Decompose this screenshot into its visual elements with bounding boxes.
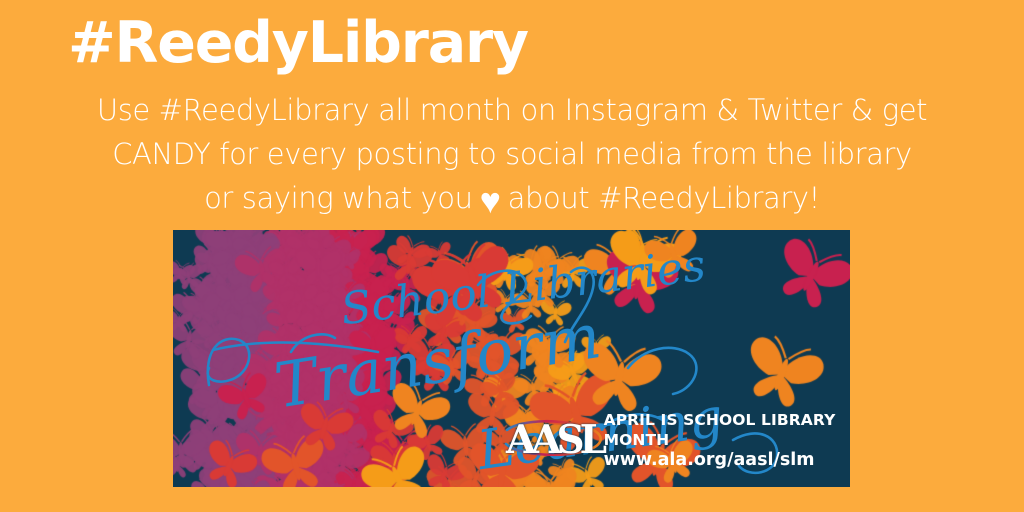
aasl-banner: School Libraries Transform Learning AASL	[173, 230, 850, 487]
slm-url: www.ala.org/aasl/slm	[604, 450, 850, 470]
aasl-logo: AASL	[506, 416, 591, 464]
promo-line-1: Use #ReedyLibrary all month on Instagram…	[0, 88, 1024, 132]
promo-line-2: CANDY for every posting to social media …	[0, 132, 1024, 176]
slm-tagline: APRIL IS SCHOOL LIBRARY MONTH	[604, 410, 850, 450]
promo-line-3-after: about #ReedyLibrary!	[508, 181, 820, 215]
slm-text-block: APRIL IS SCHOOL LIBRARY MONTH www.ala.or…	[604, 410, 850, 470]
promo-line-3-before: or saying what you	[204, 181, 473, 215]
promo-line-3: or saying what you♥about #ReedyLibrary!	[0, 176, 1024, 220]
page-title: #ReedyLibrary	[68, 12, 968, 74]
promo-copy: Use #ReedyLibrary all month on Instagram…	[0, 88, 1024, 220]
logo-block: AASL APRIL IS SCHOOL LIBRARY MONTH www.a…	[506, 410, 850, 470]
aasl-wordmark: AASL	[506, 419, 610, 461]
heart-icon: ♥	[480, 184, 501, 220]
